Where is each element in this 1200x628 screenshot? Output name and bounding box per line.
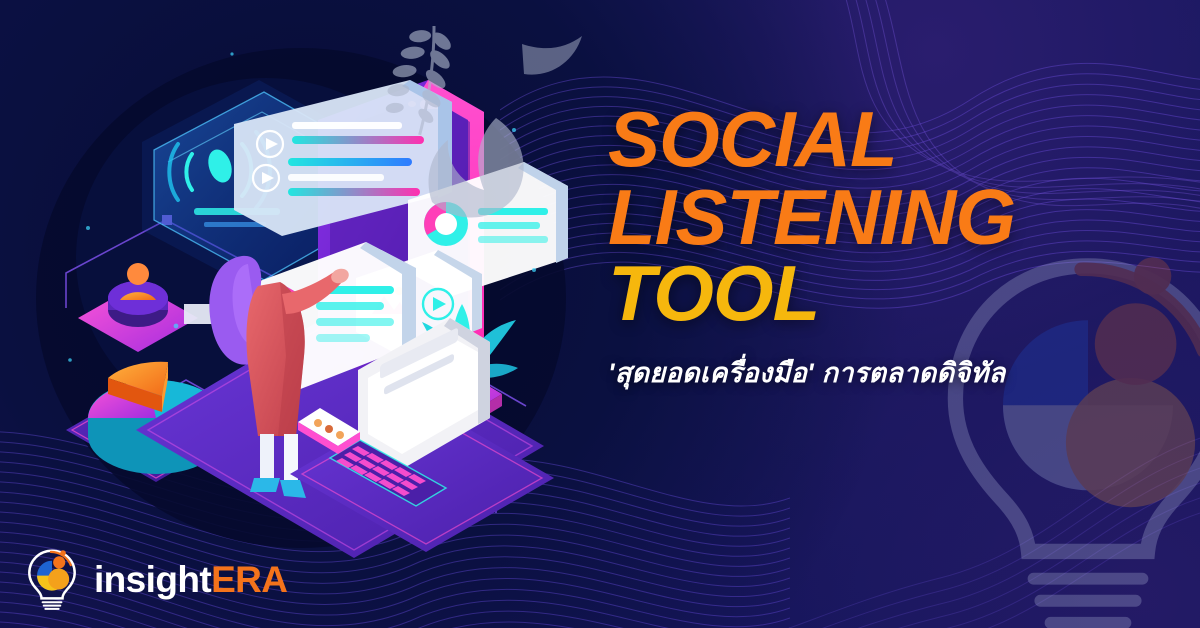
brand-lightbulb-icon — [24, 548, 80, 610]
headline-line-1: SOCIAL — [608, 104, 1178, 176]
illustration-scene — [26, 8, 586, 568]
headline-line-3: TOOL — [608, 258, 1178, 330]
brand-wordmark: insightERA — [94, 561, 287, 598]
copy-block: SOCIAL LISTENING TOOL 'สุดยอดเครื่องมือ'… — [608, 104, 1178, 394]
subtitle-thai: 'สุดยอดเครื่องมือ' การตลาดดิจิทัล — [608, 351, 1178, 394]
brand-name-primary: insight — [94, 559, 211, 600]
brand-lockup: insightERA — [24, 548, 287, 610]
wave-mesh-bottom-right — [720, 388, 1200, 628]
social-listening-banner: SOCIAL LISTENING TOOL 'สุดยอดเครื่องมือ'… — [0, 0, 1200, 628]
brand-name-secondary: ERA — [211, 559, 287, 600]
headline-line-2: LISTENING — [608, 182, 1178, 254]
